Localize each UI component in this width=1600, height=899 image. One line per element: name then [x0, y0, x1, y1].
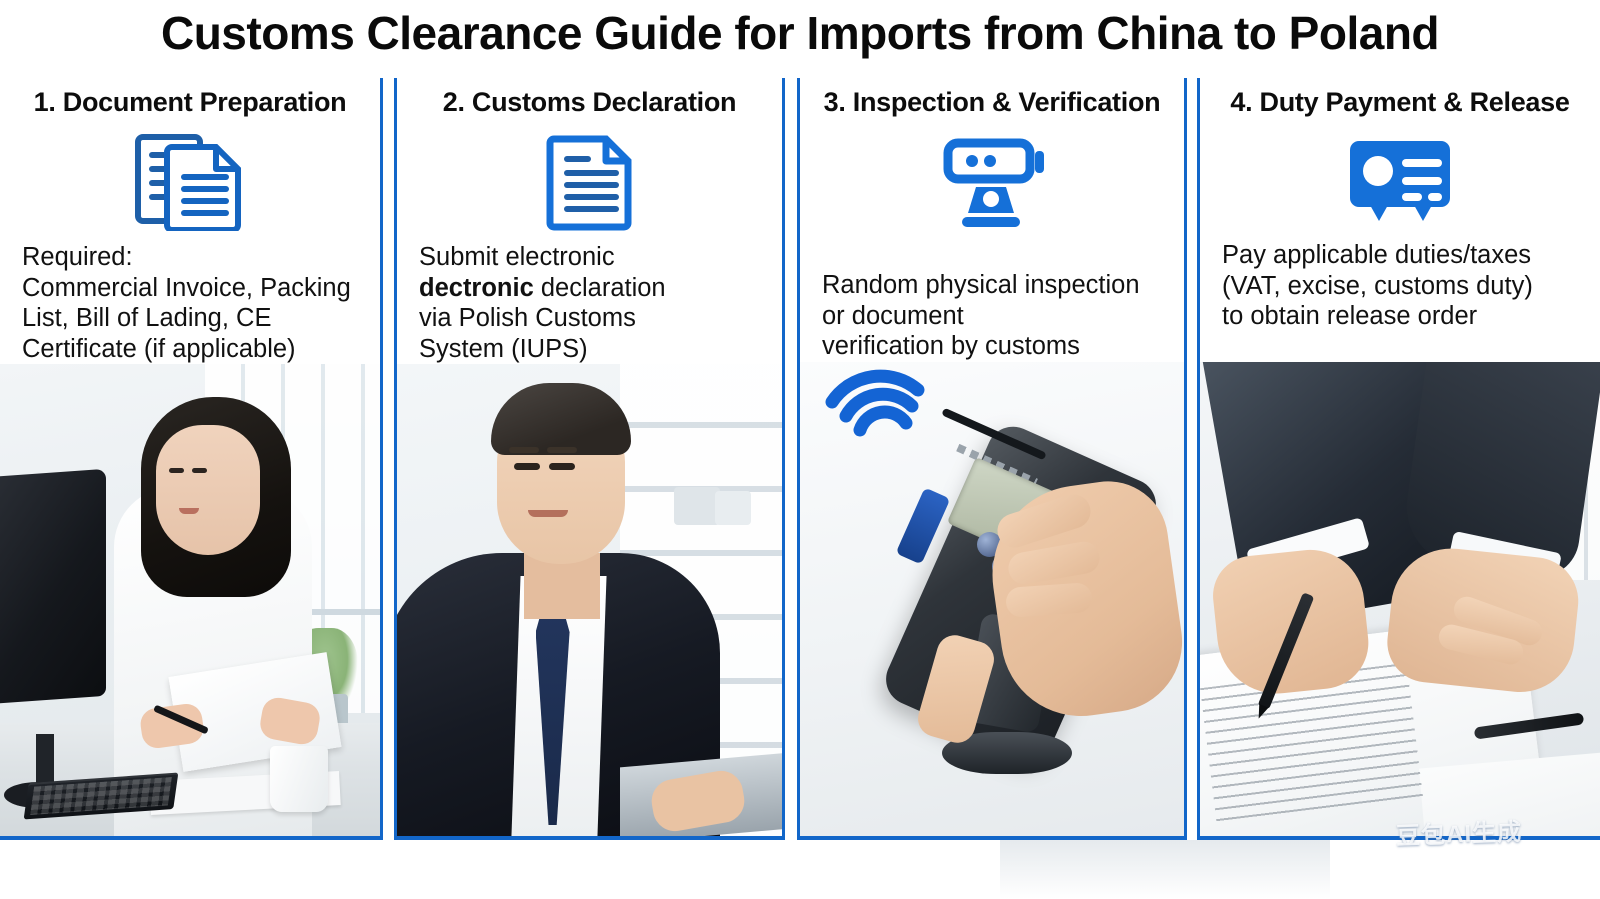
coffee-mug [270, 746, 328, 812]
step-heading-2: 2. Customs Declaration [397, 78, 782, 126]
step-description-line: Commercial Invoice, Packing [22, 273, 362, 304]
shelf-item [715, 491, 751, 525]
step-description-line-emphasis: dectronic declaration via Polish Customs… [419, 273, 764, 304]
infographic-root: Customs Clearance Guide for Imports from… [0, 0, 1600, 899]
step-description-line: (VAT, excise, customs duty) [1222, 271, 1582, 302]
step-heading-4: 4. Duty Payment & Release [1200, 78, 1600, 126]
steps-row: 1. Document Preparation [0, 78, 1600, 840]
person-mouth [528, 510, 568, 517]
shelf-item [674, 487, 720, 525]
step-heading-3: 3. Inspection & Verification [800, 78, 1184, 126]
wifi-signal-icon [822, 368, 930, 447]
step-description-line: via Polish Customs [419, 303, 764, 334]
emphasis-word: dectronic [419, 274, 534, 302]
step-description-line: Submit electronic [419, 242, 764, 273]
step-description-line: Required: [22, 242, 362, 273]
step-panel-inspection-verification: 3. Inspection & Verification Random phys… [797, 78, 1187, 840]
bottom-shadow [1000, 840, 1330, 899]
documents-icon [0, 126, 380, 236]
step-description-line: verification by customs [822, 331, 1166, 362]
person-eyebrow-right [547, 447, 577, 453]
step-description-1: Required: Commercial Invoice, Packing Li… [0, 236, 380, 364]
person-hair [491, 383, 631, 455]
step-heading-1: 1. Document Preparation [0, 78, 380, 126]
document-lines-icon [397, 126, 782, 236]
computer-monitor [0, 468, 106, 703]
person-face [156, 425, 260, 555]
page-title: Customs Clearance Guide for Imports from… [0, 2, 1600, 64]
bottom-strip [0, 840, 1600, 899]
step-description-3: Random physical inspection or document v… [800, 236, 1184, 362]
step-photo-3 [800, 362, 1184, 837]
step-description-line: List, Bill of Lading, CE [22, 303, 362, 334]
step-description-line: Random physical inspection [822, 270, 1166, 301]
certificate-card-icon [1200, 126, 1600, 236]
step-panel-document-preparation: 1. Document Preparation [0, 78, 383, 840]
step-photo-2 [397, 364, 782, 836]
scanner-camera-icon [800, 126, 1184, 236]
person-eye-left [514, 463, 540, 470]
step-description-2: Submit electronic dectronic declaration … [397, 236, 782, 364]
step-photo-4 [1200, 362, 1600, 836]
step-panel-customs-declaration: 2. Customs Declaration Submit electronic [394, 78, 785, 840]
person-eyebrow-left [509, 447, 539, 453]
step-description-line: to obtain release order [1222, 301, 1582, 332]
person-eye-right [549, 463, 575, 470]
step-description-4: Pay applicable duties/taxes (VAT, excise… [1200, 236, 1600, 362]
person-eye-right [192, 468, 207, 473]
step-description-line: Certificate (if applicable) [22, 334, 362, 365]
step-photo-1 [0, 364, 380, 836]
step-description-line: or document [822, 301, 1166, 332]
step-description-line: System (IUPS) [419, 334, 764, 365]
hand-finger [1005, 582, 1093, 618]
step-description-line: Pay applicable duties/taxes [1222, 240, 1582, 271]
person-eye-left [169, 468, 184, 473]
step-panel-duty-payment-release: 4. Duty Payment & Release Pay applicable… [1197, 78, 1600, 840]
person-mouth [179, 508, 199, 514]
